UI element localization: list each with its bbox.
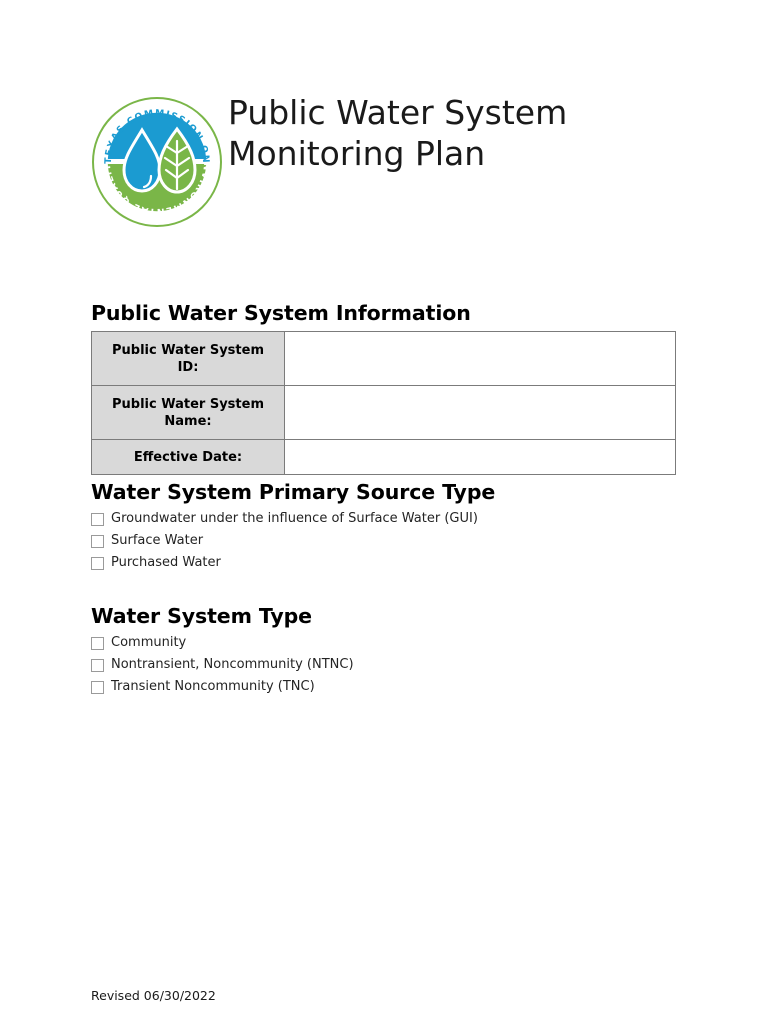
label-effective-date: Effective Date: (92, 440, 285, 475)
checkbox-option-gui[interactable]: Groundwater under the influence of Surfa… (91, 508, 478, 530)
section-heading-water-system-type: Water System Type (91, 604, 312, 628)
section-heading-public-water-system-information: Public Water System Information (91, 301, 471, 325)
checkbox-option-surface-water[interactable]: Surface Water (91, 530, 478, 552)
checkbox-label: Community (111, 635, 186, 651)
checkbox-icon[interactable] (91, 637, 104, 650)
label-pws-id: Public Water System ID: (92, 332, 285, 386)
document-header: TEXAS COMMISSION ON ENVIRONMENTAL QUALIT… (91, 92, 671, 242)
checkbox-icon[interactable] (91, 681, 104, 694)
water-system-type-options: Community Nontransient, Noncommunity (NT… (91, 632, 354, 698)
input-effective-date[interactable] (285, 440, 676, 475)
checkbox-option-tnc[interactable]: Transient Noncommunity (TNC) (91, 676, 354, 698)
public-water-system-info-table: Public Water System ID: Public Water Sys… (91, 331, 676, 475)
table-row: Public Water System ID: (92, 332, 676, 386)
input-pws-name[interactable] (285, 386, 676, 440)
tceq-logo: TEXAS COMMISSION ON ENVIRONMENTAL QUALIT… (91, 96, 223, 228)
input-pws-id[interactable] (285, 332, 676, 386)
document-title-line-1: Public Water System (228, 92, 668, 133)
table-row: Public Water System Name: (92, 386, 676, 440)
checkbox-label: Surface Water (111, 533, 203, 549)
checkbox-label: Purchased Water (111, 555, 221, 571)
checkbox-icon[interactable] (91, 513, 104, 526)
document-title: Public Water System Monitoring Plan (228, 92, 668, 174)
checkbox-label: Transient Noncommunity (TNC) (111, 679, 315, 695)
document-title-line-2: Monitoring Plan (228, 133, 668, 174)
footer-revision-date: Revised 06/30/2022 (91, 988, 216, 1003)
checkbox-icon[interactable] (91, 535, 104, 548)
section-heading-water-system-primary-source-type: Water System Primary Source Type (91, 480, 495, 504)
checkbox-option-purchased-water[interactable]: Purchased Water (91, 552, 478, 574)
checkbox-option-ntnc[interactable]: Nontransient, Noncommunity (NTNC) (91, 654, 354, 676)
checkbox-label: Nontransient, Noncommunity (NTNC) (111, 657, 354, 673)
primary-source-type-options: Groundwater under the influence of Surfa… (91, 508, 478, 574)
checkbox-label: Groundwater under the influence of Surfa… (111, 511, 478, 527)
checkbox-icon[interactable] (91, 659, 104, 672)
label-pws-name: Public Water System Name: (92, 386, 285, 440)
checkbox-option-community[interactable]: Community (91, 632, 354, 654)
table-row: Effective Date: (92, 440, 676, 475)
document-page: TEXAS COMMISSION ON ENVIRONMENTAL QUALIT… (0, 0, 770, 1024)
checkbox-icon[interactable] (91, 557, 104, 570)
